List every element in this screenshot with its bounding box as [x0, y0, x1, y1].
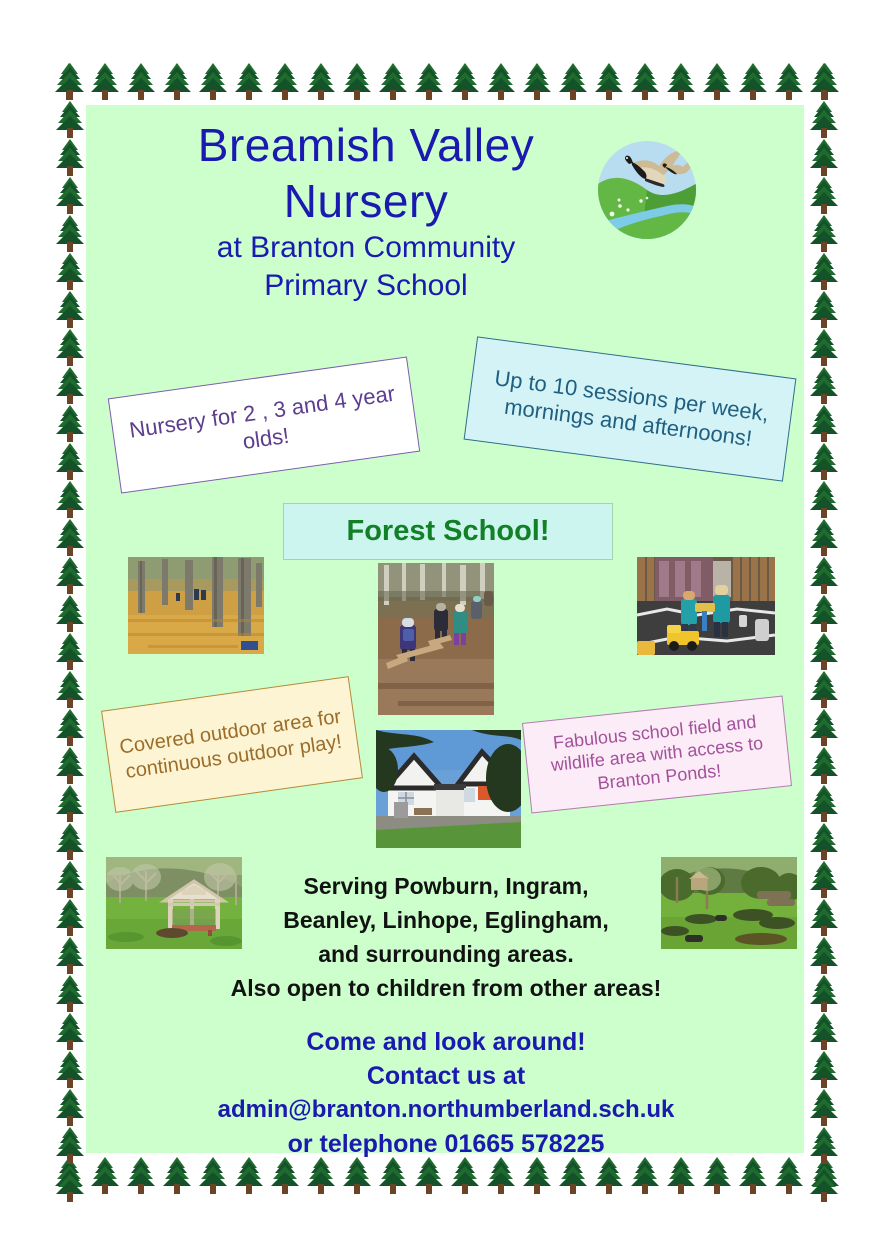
pine-tree-icon [807, 1126, 841, 1164]
serving-line1: Serving Powburn, Ingram, [216, 869, 676, 903]
pine-tree-icon [304, 1156, 338, 1194]
callout-ages: Nursery for 2 , 3 and 4 year olds! [108, 356, 420, 493]
pine-tree-icon [53, 936, 87, 974]
photo-school-building [376, 730, 521, 848]
pine-tree-icon [807, 100, 841, 138]
pine-tree-icon [807, 404, 841, 442]
tree-border-top [52, 62, 842, 102]
pine-tree-icon [556, 1156, 590, 1194]
pine-tree-icon [807, 328, 841, 366]
pine-tree-icon [807, 708, 841, 746]
pine-tree-icon [53, 62, 87, 100]
pine-tree-icon [807, 784, 841, 822]
tree-border-right [806, 62, 842, 1196]
pine-tree-icon [736, 62, 770, 100]
serving-line4: Also open to children from other areas! [216, 971, 676, 1005]
tree-border-bottom [52, 1156, 842, 1196]
pine-tree-icon [53, 746, 87, 784]
pine-tree-icon [340, 62, 374, 100]
pine-tree-icon [772, 62, 806, 100]
contact-email[interactable]: admin@branton.northumberland.sch.uk [146, 1093, 746, 1127]
pine-tree-icon [88, 1156, 122, 1194]
pine-tree-icon [268, 62, 302, 100]
callout-forest-school-text: Forest School! [284, 513, 612, 549]
pine-tree-icon [807, 936, 841, 974]
pine-tree-icon [53, 594, 87, 632]
callout-school-field: Fabulous school field and wildlife area … [522, 696, 792, 814]
callout-forest-school: Forest School! [283, 503, 613, 560]
callout-ages-text: Nursery for 2 , 3 and 4 year olds! [112, 377, 417, 473]
photo-playground [637, 557, 775, 655]
pine-tree-icon [807, 62, 841, 100]
pine-tree-icon [520, 62, 554, 100]
pine-tree-icon [53, 1012, 87, 1050]
pine-tree-icon [53, 252, 87, 290]
callout-school-field-text: Fabulous school field and wildlife area … [524, 707, 790, 801]
pine-tree-icon [53, 176, 87, 214]
poster-header: Breamish Valley Nursery at Branton Commu… [86, 117, 646, 305]
poster-content-panel: Breamish Valley Nursery at Branton Commu… [86, 105, 804, 1153]
pine-tree-icon [700, 1156, 734, 1194]
pine-tree-icon [376, 1156, 410, 1194]
pine-tree-icon [53, 518, 87, 556]
pine-tree-icon [628, 62, 662, 100]
pine-tree-icon [304, 62, 338, 100]
pine-tree-icon [772, 1156, 806, 1194]
pine-tree-icon [53, 214, 87, 252]
pine-tree-icon [53, 138, 87, 176]
pine-tree-icon [807, 366, 841, 404]
pine-tree-icon [664, 1156, 698, 1194]
pine-tree-icon [268, 1156, 302, 1194]
pine-tree-icon [807, 974, 841, 1012]
pine-tree-icon [807, 252, 841, 290]
pine-tree-icon [53, 784, 87, 822]
pine-tree-icon [807, 898, 841, 936]
pine-tree-icon [53, 898, 87, 936]
contact-phone[interactable]: or telephone 01665 578225 [146, 1127, 746, 1161]
pine-tree-icon [556, 62, 590, 100]
pine-tree-icon [448, 1156, 482, 1194]
photo-field [661, 857, 797, 949]
pine-tree-icon [53, 632, 87, 670]
pine-tree-icon [53, 100, 87, 138]
pine-tree-icon [807, 632, 841, 670]
pine-tree-icon [484, 62, 518, 100]
pine-tree-icon [807, 138, 841, 176]
pine-tree-icon [53, 290, 87, 328]
pine-tree-icon [807, 556, 841, 594]
pine-tree-icon [807, 670, 841, 708]
pine-tree-icon [53, 480, 87, 518]
pine-tree-icon [124, 1156, 158, 1194]
page-title-line2: Nursery [86, 173, 646, 229]
pine-tree-icon [53, 860, 87, 898]
pine-tree-icon [53, 442, 87, 480]
serving-areas-text: Serving Powburn, Ingram, Beanley, Linhop… [216, 869, 676, 1005]
pine-tree-icon [53, 670, 87, 708]
pine-tree-icon [807, 518, 841, 556]
pine-tree-icon [520, 1156, 554, 1194]
pine-tree-icon [807, 860, 841, 898]
pine-tree-icon [53, 366, 87, 404]
pine-tree-icon [807, 290, 841, 328]
pine-tree-icon [124, 62, 158, 100]
pine-tree-icon [53, 1126, 87, 1164]
contact-subheading: Contact us at [146, 1059, 746, 1093]
pine-tree-icon [807, 176, 841, 214]
tree-border-left [52, 62, 88, 1196]
pine-tree-icon [160, 1156, 194, 1194]
pine-tree-icon [807, 214, 841, 252]
pine-tree-icon [807, 442, 841, 480]
pine-tree-icon [736, 1156, 770, 1194]
page-title-line1: Breamish Valley [86, 117, 646, 173]
pine-tree-icon [53, 328, 87, 366]
callout-covered-outdoor: Covered outdoor area for continuous outd… [101, 676, 363, 813]
pine-tree-icon [53, 404, 87, 442]
pine-tree-icon [232, 1156, 266, 1194]
pine-tree-icon [196, 1156, 230, 1194]
pine-tree-icon [484, 1156, 518, 1194]
callout-sessions: Up to 10 sessions per week, mornings and… [464, 336, 797, 481]
pine-tree-icon [628, 1156, 662, 1194]
page-subtitle-line2: Primary School [86, 267, 646, 305]
pine-tree-icon [807, 594, 841, 632]
geese-over-valley-logo [595, 138, 699, 242]
nursery-poster: Breamish Valley Nursery at Branton Commu… [0, 0, 890, 1258]
pine-tree-icon [664, 62, 698, 100]
pine-tree-icon [807, 1050, 841, 1088]
pine-tree-icon [88, 62, 122, 100]
pine-tree-icon [196, 62, 230, 100]
serving-line3: and surrounding areas. [216, 937, 676, 971]
contact-heading: Come and look around! [146, 1025, 746, 1059]
pine-tree-icon [53, 974, 87, 1012]
pine-tree-icon [340, 1156, 374, 1194]
contact-block: Come and look around! Contact us at admi… [146, 1025, 746, 1161]
callout-sessions-text: Up to 10 sessions per week, mornings and… [468, 361, 792, 457]
page-subtitle-line1: at Branton Community [86, 229, 646, 267]
pine-tree-icon [232, 62, 266, 100]
pine-tree-icon [53, 556, 87, 594]
pine-tree-icon [807, 1088, 841, 1126]
photo-forest-school [378, 563, 494, 715]
pine-tree-icon [592, 1156, 626, 1194]
pine-tree-icon [53, 708, 87, 746]
pine-tree-icon [807, 480, 841, 518]
pine-tree-icon [807, 1012, 841, 1050]
pine-tree-icon [412, 62, 446, 100]
pine-tree-icon [53, 1088, 87, 1126]
callout-covered-outdoor-text: Covered outdoor area for continuous outd… [106, 702, 359, 786]
pine-tree-icon [807, 822, 841, 860]
pine-tree-icon [376, 62, 410, 100]
photo-autumn-woods [128, 557, 264, 654]
pine-tree-icon [53, 1050, 87, 1088]
pine-tree-icon [160, 62, 194, 100]
pine-tree-icon [592, 62, 626, 100]
pine-tree-icon [700, 62, 734, 100]
pine-tree-icon [807, 746, 841, 784]
pine-tree-icon [807, 1164, 841, 1202]
pine-tree-icon [53, 822, 87, 860]
pine-tree-icon [412, 1156, 446, 1194]
pine-tree-icon [448, 62, 482, 100]
serving-line2: Beanley, Linhope, Eglingham, [216, 903, 676, 937]
pine-tree-icon [53, 1164, 87, 1202]
